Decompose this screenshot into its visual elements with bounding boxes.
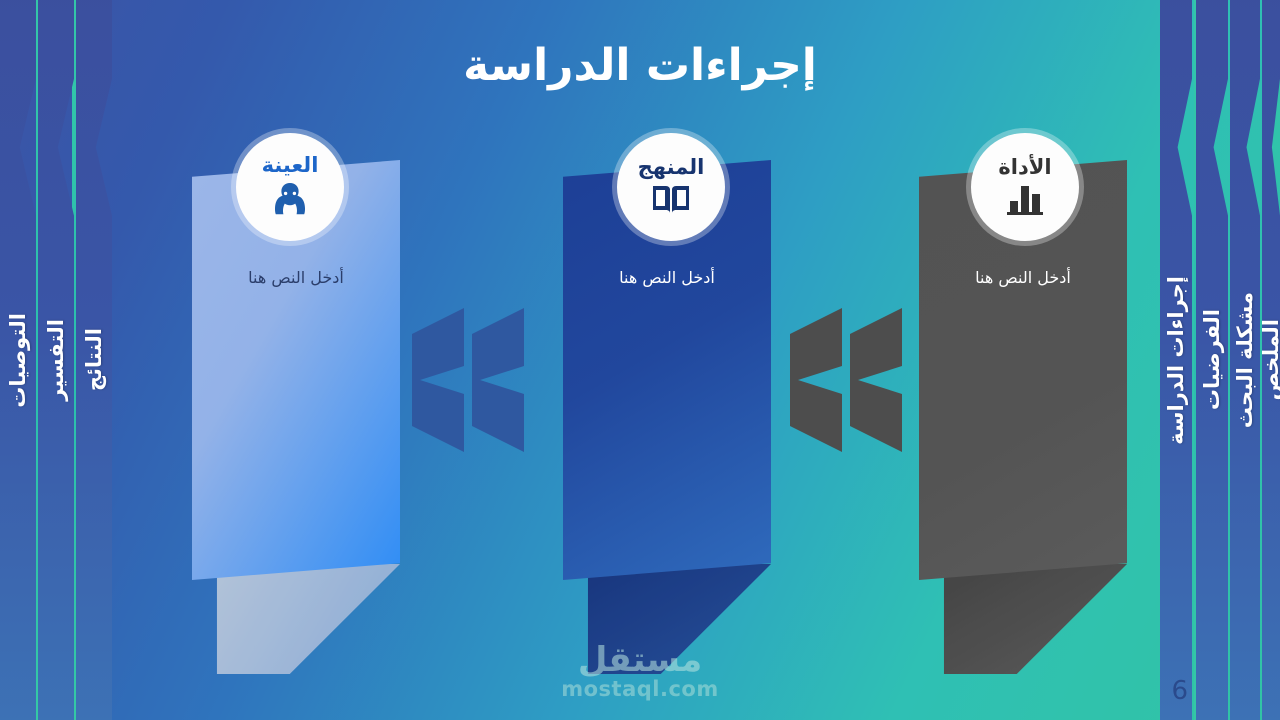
sidebar-tab-research-problem[interactable]: مشكلة البحث: [1230, 0, 1260, 720]
mostaql-watermark: مستقل mostaql.com: [530, 643, 750, 701]
sidebar-tab-recommendations[interactable]: التوصيات: [0, 0, 36, 720]
badge-label: المنهج: [638, 157, 705, 178]
sidebar-tab-label: مشكلة البحث: [1233, 292, 1257, 428]
card-body-text: أدخل النص هنا: [919, 268, 1127, 287]
bar-chart-icon: [1005, 182, 1045, 216]
card-tail: [919, 564, 1127, 674]
sidebar-tab-study-procedures[interactable]: إجراءات الدراسة: [1160, 0, 1192, 720]
sidebar-tab-label: التوصيات: [6, 313, 30, 408]
page-title: إجراءات الدراسة: [0, 40, 1280, 91]
sidebar-tab-interpretation[interactable]: التفسير: [38, 0, 74, 720]
card-body-text: أدخل النص هنا: [563, 268, 771, 287]
badge-label: العينة: [262, 155, 319, 176]
sidebar-tab-label: الفرضيات: [1200, 309, 1224, 410]
watermark-latin: mostaql.com: [530, 677, 750, 701]
sidebar-tab-label: إجراءات الدراسة: [1164, 276, 1188, 445]
person-icon: [271, 180, 309, 218]
sidebar-tab-label: التفسير: [44, 319, 68, 401]
sidebar-tab-results[interactable]: النتائج: [76, 0, 112, 720]
page-number: 6: [1171, 676, 1188, 706]
card-tail: [192, 564, 400, 674]
badge-instrument[interactable]: الأداة: [971, 133, 1079, 241]
presentation-slide: التوصيات التفسير النتائج إجراءات الدراسة…: [0, 0, 1280, 720]
watermark-arabic: مستقل: [530, 643, 750, 679]
badge-sample[interactable]: العينة: [236, 133, 344, 241]
card-body-text: أدخل النص هنا: [192, 268, 400, 287]
left-side-tabs: التوصيات التفسير النتائج: [0, 0, 120, 720]
double-chevron-left-icon: [412, 306, 524, 454]
open-book-icon: [651, 182, 691, 216]
badge-label: الأداة: [998, 157, 1051, 178]
flow-arrow-methodology: [790, 306, 902, 454]
sidebar-tab-label: الملخص: [1259, 319, 1280, 401]
flow-arrow-sample: [412, 306, 524, 454]
sidebar-tab-hypotheses[interactable]: الفرضيات: [1196, 0, 1228, 720]
sidebar-tab-label: النتائج: [82, 328, 106, 391]
badge-methodology[interactable]: المنهج: [617, 133, 725, 241]
right-side-tabs: إجراءات الدراسة الفرضيات مشكلة البحث الم…: [1160, 0, 1280, 720]
double-chevron-left-icon: [790, 306, 902, 454]
